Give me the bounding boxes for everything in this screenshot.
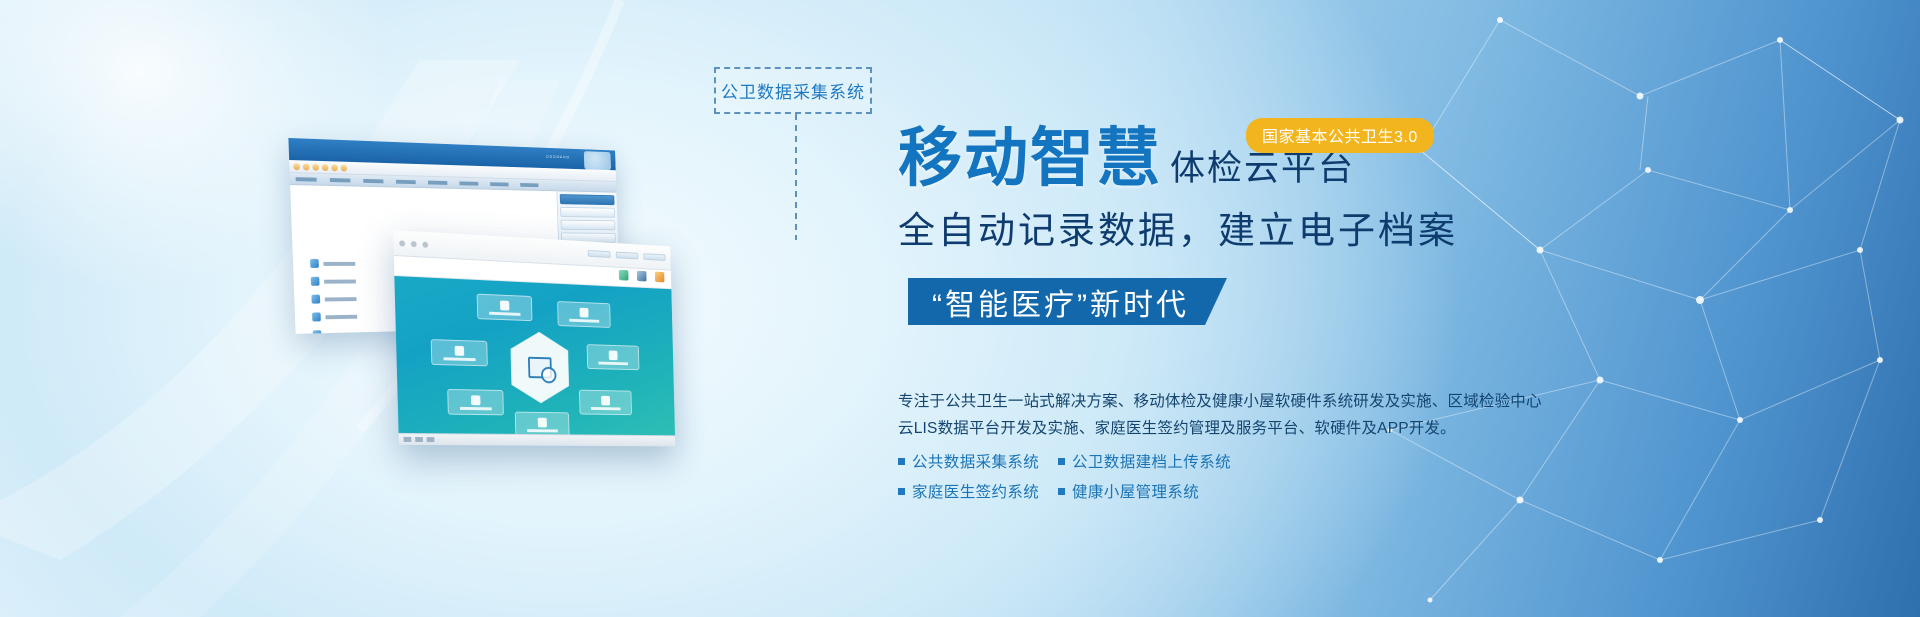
app-icon-list xyxy=(310,259,359,334)
dashboard-tile xyxy=(477,294,533,322)
callout-label-text: 公卫数据采集系统 xyxy=(721,78,865,103)
hero-banner: ▫▫▫▫▫▫▫ xyxy=(0,0,1920,617)
feature-list: 公共数据采集系统 公卫数据建档上传系统 家庭医生签约系统 健康小屋管理系统 xyxy=(898,450,1358,510)
feature-row: 公共数据采集系统 公卫数据建档上传系统 xyxy=(898,450,1358,472)
screenshot-health-dashboard xyxy=(393,230,675,446)
hexagon-hub-magnifier-icon xyxy=(505,331,574,404)
bullet-square-icon xyxy=(1058,488,1065,495)
bullet-square-icon xyxy=(1058,458,1065,465)
dashboard-tile xyxy=(587,344,640,370)
dashboard-tile xyxy=(557,301,611,328)
window-taskbar xyxy=(399,433,676,447)
ribbon-slogan: “智能医疗”新时代 xyxy=(908,278,1227,325)
app-title-text: ▫▫▫▫▫▫▫ xyxy=(546,152,570,162)
callout-label: 公卫数据采集系统 xyxy=(714,67,872,114)
feature-label: 健康小屋管理系统 xyxy=(1072,480,1199,502)
feature-item[interactable]: 公共数据采集系统 xyxy=(898,450,1058,472)
feature-item[interactable]: 公卫数据建档上传系统 xyxy=(1058,450,1231,472)
status-badge: 国家基本公共卫生3.0 xyxy=(1246,118,1434,153)
product-screenshots: ▫▫▫▫▫▫▫ xyxy=(0,0,860,617)
app-avatar xyxy=(584,151,611,170)
feature-label: 家庭医生签约系统 xyxy=(912,480,1039,502)
feature-label: 公共数据采集系统 xyxy=(912,450,1039,472)
ribbon-slogan-text: “智能医疗”新时代 xyxy=(932,280,1189,324)
dashboard-canvas xyxy=(394,276,675,446)
feature-row: 家庭医生签约系统 健康小屋管理系统 xyxy=(898,480,1358,502)
feature-label: 公卫数据建档上传系统 xyxy=(1072,450,1231,472)
dashboard-tile xyxy=(431,339,488,366)
banner-content: 移动智慧 体检云平台 国家基本公共卫生3.0 全自动记录数据，建立电子档案 “智… xyxy=(898,0,1898,617)
feature-item[interactable]: 家庭医生签约系统 xyxy=(898,480,1058,502)
headline-suffix-text: 体检云平台 xyxy=(1170,151,1355,190)
headline-secondary: 全自动记录数据，建立电子档案 xyxy=(898,200,1458,254)
headline-main-text: 移动智慧 xyxy=(898,126,1162,190)
bullet-square-icon xyxy=(898,458,905,465)
description-paragraph: 专注于公共卫生一站式解决方案、移动体检及健康小屋软硬件系统研发及实施、区域检验中… xyxy=(898,388,1598,442)
description-line-2: 云LIS数据平台开发及实施、家庭医生签约管理及服务平台、软硬件及APP开发。 xyxy=(898,415,1598,442)
bullet-square-icon xyxy=(898,488,905,495)
feature-item[interactable]: 健康小屋管理系统 xyxy=(1058,480,1199,502)
description-line-1: 专注于公共卫生一站式解决方案、移动体检及健康小屋软硬件系统研发及实施、区域检验中… xyxy=(898,388,1598,415)
dashboard-tile xyxy=(579,390,632,416)
dashboard-tile xyxy=(447,389,504,415)
